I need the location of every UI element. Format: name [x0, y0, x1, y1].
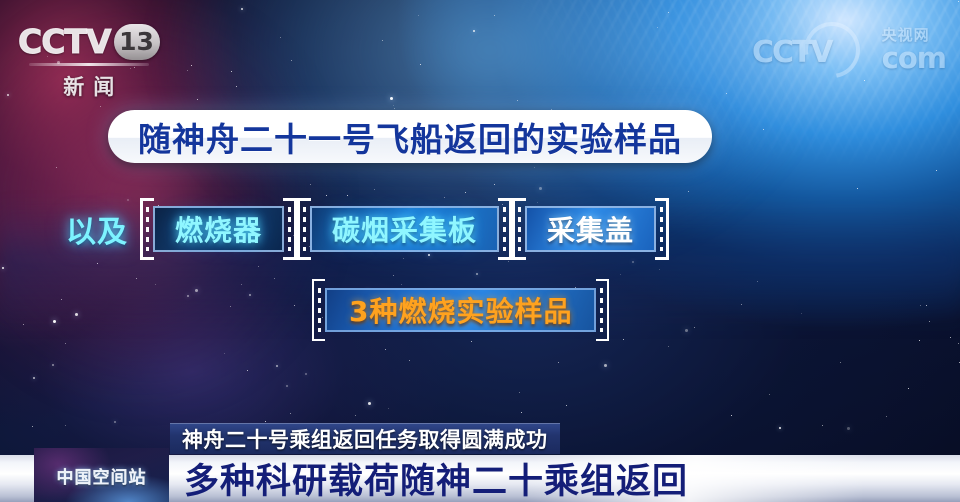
sample-chip-soot-plate-label: 碳烟采集板 — [332, 209, 477, 249]
bracket-dash-right-icon — [660, 207, 663, 251]
lower-third-subtitle-text: 神舟二十号乘组返回任务取得圆满成功 — [182, 424, 548, 454]
logo-underline — [29, 63, 149, 66]
bracket-dash-right-icon — [503, 207, 506, 251]
highlight-chip-label: 3种燃烧实验样品 — [349, 290, 572, 330]
highlight-chip: 3种燃烧实验样品 — [325, 288, 596, 332]
broadcast-screenshot: CCTV 13 新闻 CCTV 央视网 com 随神舟二十一号飞船返回的实验样品… — [0, 0, 960, 502]
sample-chip-burner: 燃烧器 — [153, 206, 284, 252]
lower-third-headline-text: 多种科研载荷随神二十乘组返回 — [184, 453, 688, 502]
bracket-dash-left-icon — [518, 207, 521, 251]
program-badge-label: 中国空间站 — [57, 463, 147, 488]
channel-name-label: 新闻 — [54, 71, 123, 101]
bracket-group-burner: 燃烧器 — [140, 198, 297, 260]
bracket-group-highlight: 3种燃烧实验样品 — [312, 279, 609, 341]
channel-number-badge: 13 — [114, 24, 160, 60]
sample-chip-collection-cap: 采集盖 — [525, 206, 656, 252]
lower-third-subtitle-bar: 神舟二十号乘组返回任务取得圆满成功 — [170, 423, 560, 454]
sample-chip-burner-label: 燃烧器 — [175, 209, 262, 249]
graphic-title-text: 随神舟二十一号飞船返回的实验样品 — [138, 113, 682, 161]
graphic-title-pill: 随神舟二十一号飞船返回的实验样品 — [108, 110, 712, 163]
bracket-dash-left-icon — [146, 207, 149, 251]
bracket-group-collection-cap: 采集盖 — [512, 198, 669, 260]
program-badge: 中国空间站 — [34, 448, 169, 502]
cctv13-channel-logo: CCTV 13 新闻 — [18, 22, 160, 101]
cctv13-logo-row: CCTV 13 — [18, 22, 160, 61]
bracket-dash-left-icon — [303, 207, 306, 251]
sample-chip-collection-cap-label: 采集盖 — [547, 209, 634, 249]
bracket-group-soot-plate: 碳烟采集板 — [297, 198, 512, 260]
sample-items-row: 以及 燃烧器 碳烟采集板 采集盖 — [66, 198, 669, 260]
bracket-dash-right-icon — [600, 288, 603, 332]
highlight-row: 3种燃烧实验样品 — [312, 279, 609, 341]
lead-text-label: 以及 — [66, 207, 128, 251]
bracket-dash-left-icon — [318, 288, 321, 332]
sample-chip-soot-plate: 碳烟采集板 — [310, 206, 499, 252]
cctv-wordmark: CCTV — [18, 22, 111, 61]
bracket-dash-right-icon — [288, 207, 291, 251]
